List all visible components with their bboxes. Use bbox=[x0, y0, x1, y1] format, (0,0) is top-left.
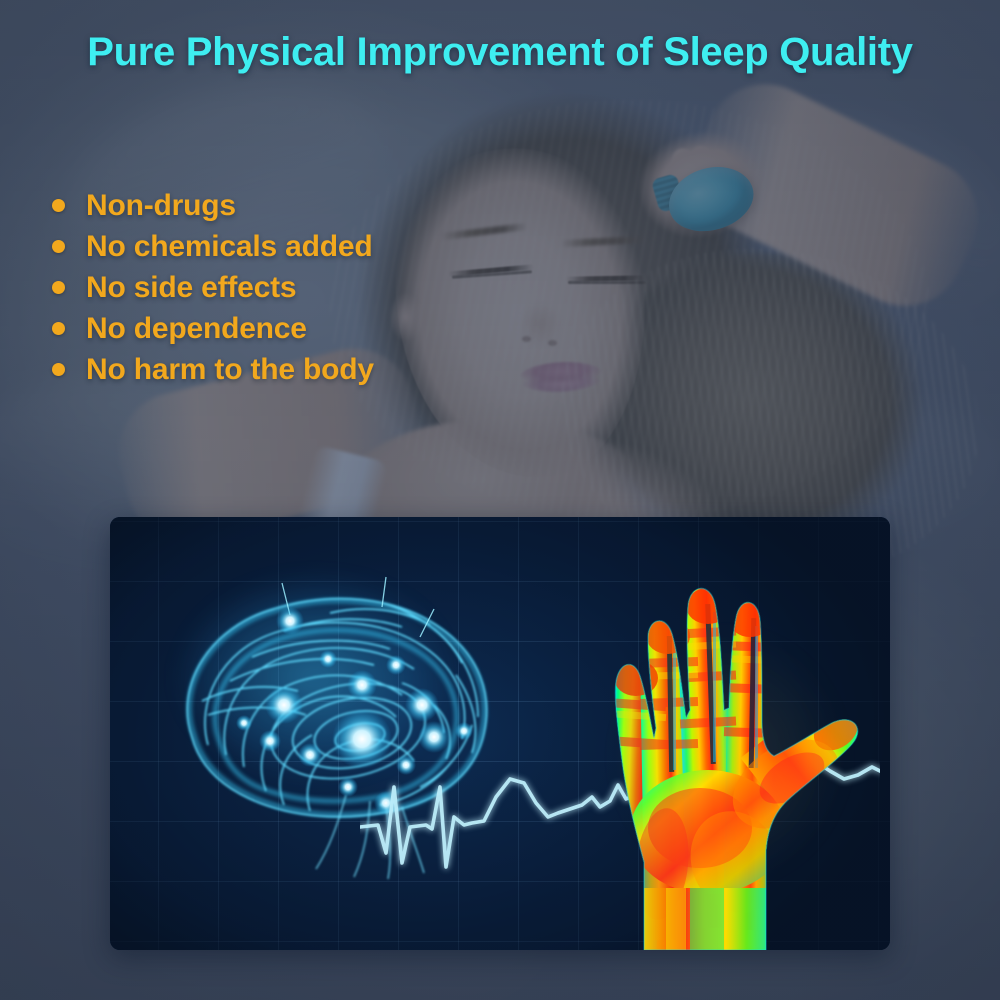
thermal-hand-visual bbox=[540, 532, 890, 950]
thermal-hand-icon bbox=[540, 532, 890, 950]
list-item: No dependence bbox=[52, 308, 522, 349]
list-item: No harm to the body bbox=[52, 349, 522, 390]
benefit-label: No dependence bbox=[86, 312, 307, 346]
bullet-dot-icon bbox=[52, 363, 65, 376]
page-title: Pure Physical Improvement of Sleep Quali… bbox=[0, 30, 1000, 75]
benefit-label: No chemicals added bbox=[86, 230, 373, 264]
list-item: No side effects bbox=[52, 267, 522, 308]
list-item: No chemicals added bbox=[52, 226, 522, 267]
list-item: Non-drugs bbox=[52, 185, 522, 226]
poster-root: Pure Physical Improvement of Sleep Quali… bbox=[0, 0, 1000, 1000]
media-panel bbox=[110, 517, 890, 950]
benefit-label: Non-drugs bbox=[86, 189, 236, 223]
bullet-dot-icon bbox=[52, 240, 65, 253]
bullet-dot-icon bbox=[52, 322, 65, 335]
bullet-dot-icon bbox=[52, 281, 65, 294]
bullet-dot-icon bbox=[52, 199, 65, 212]
benefits-list: Non-drugs No chemicals added No side eff… bbox=[52, 185, 522, 390]
benefit-label: No side effects bbox=[86, 271, 296, 305]
benefit-label: No harm to the body bbox=[86, 353, 374, 387]
